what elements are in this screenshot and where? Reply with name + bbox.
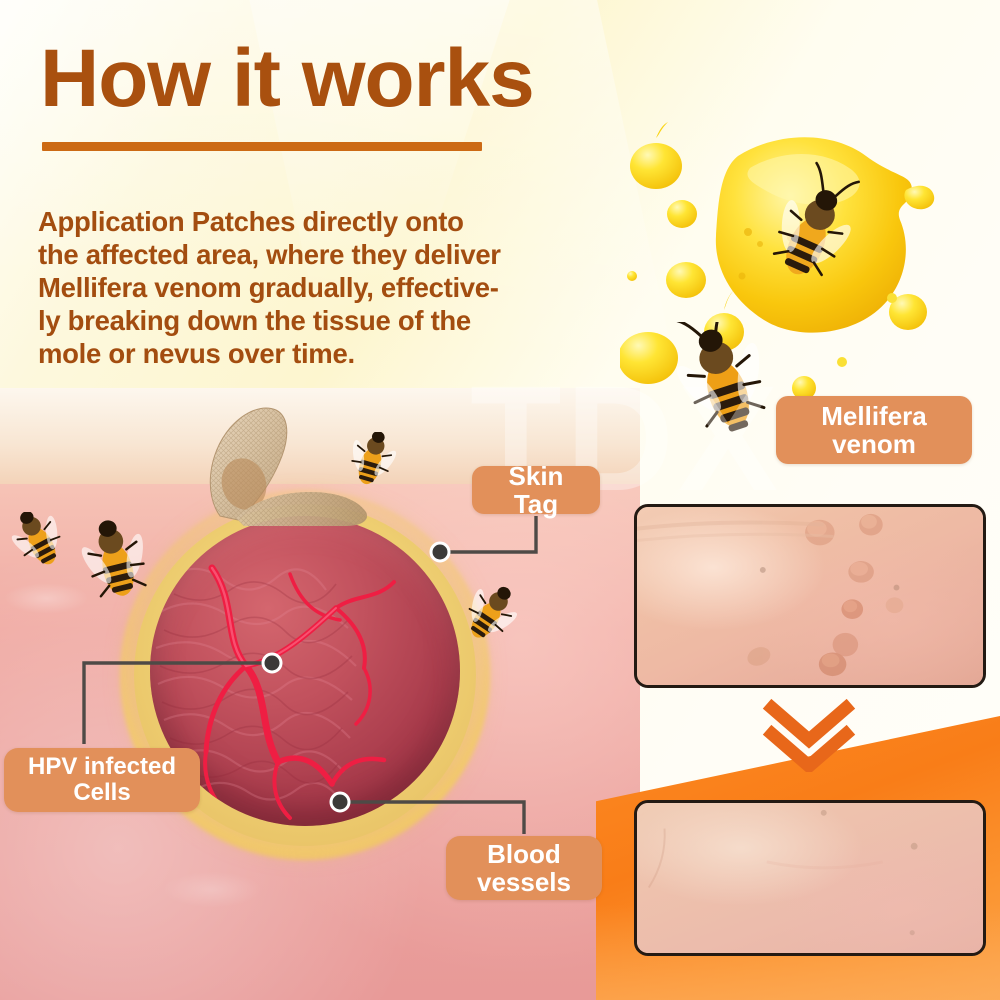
bee-pair-left (0, 512, 200, 628)
label-mellifera-line-2: venom (832, 429, 916, 459)
label-mellifera-venom: Mellifera venom (776, 396, 972, 464)
description-line-2: the affected area, where they deliver (38, 238, 598, 271)
label-mellifera-line-1: Mellifera (821, 401, 927, 431)
label-mellifera-venom-text: Mellifera venom (821, 402, 927, 458)
photo-before-treatment (634, 504, 986, 688)
description-line-1: Application Patches directly onto (38, 205, 598, 238)
double-chevron-down-icon (760, 698, 858, 772)
title-underline (42, 142, 482, 151)
infographic-canvas: TDX (0, 0, 1000, 1000)
description-line-3: Mellifera venom gradually, effective- (38, 271, 598, 304)
after-skin-detail (637, 803, 983, 956)
photo-after-treatment (634, 800, 986, 956)
page-title: How it works (40, 38, 534, 120)
label-hpv-text: HPV infected Cells (28, 754, 176, 806)
label-skin-tag-text: Skin Tag (486, 462, 586, 518)
bee-above-mole (324, 432, 414, 502)
description-line-5: mole or nevus over time. (38, 337, 598, 370)
label-blood-line-2: vessels (477, 867, 571, 897)
description-text: Application Patches directly onto the af… (38, 205, 598, 370)
label-blood-line-1: Blood (487, 839, 561, 869)
bee-right-of-mole (434, 576, 534, 662)
label-hpv-infected-cells: HPV infected Cells (4, 748, 200, 812)
label-blood-text: Blood vessels (477, 840, 571, 896)
label-hpv-line-2: Cells (73, 779, 130, 806)
before-skin-tags (637, 507, 983, 688)
label-skin-tag: Skin Tag (472, 466, 600, 514)
label-blood-vessels: Blood vessels (446, 836, 602, 900)
label-hpv-line-1: HPV infected (28, 753, 176, 780)
description-line-4: ly breaking down the tissue of the (38, 304, 598, 337)
